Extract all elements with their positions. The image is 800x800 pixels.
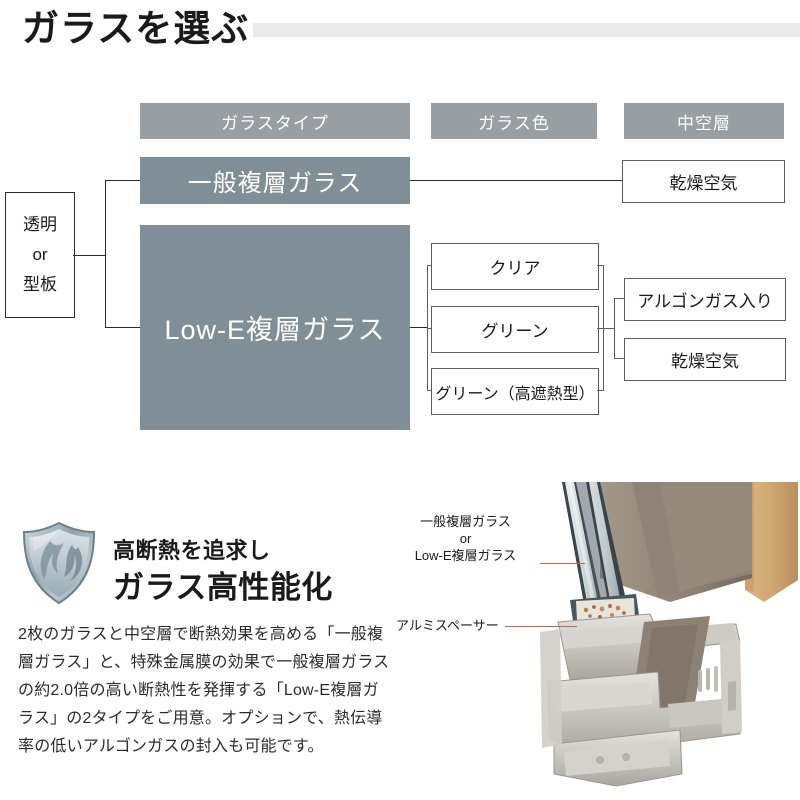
glass-color-green-heatshield: グリーン（高遮熱型） [431,368,599,415]
source-option-conjunction: or [32,240,47,270]
feature-heading: ガラス高性能化 [113,562,333,607]
column-header-label: 中空層 [677,109,731,134]
glass-selection-page: ガラスを選ぶ ガラスタイプ ガラス色 中空層 透明 or 型板 一般複層ガラス … [0,0,800,800]
connector-type-bracket [105,180,106,328]
glass-type-general: 一般複層ガラス [140,157,410,204]
connector-lowe-stem [410,327,428,328]
callout-glass-line2: or [393,530,538,547]
connector-cavity-bracket [614,298,615,359]
glass-color-label: グリーン [481,317,548,342]
connector-to-dry-air [614,358,624,359]
column-header-glass-type: ガラスタイプ [140,103,410,139]
callout-glass-line3: Low-E複層ガラス [393,547,538,564]
page-title: ガラスを選ぶ [22,6,249,52]
connector-source-stem [73,255,106,256]
cavity-label: アルゴンガス入り [637,287,773,312]
glass-color-clear: クリア [431,243,599,290]
column-header-label: ガラスタイプ [221,109,329,134]
column-header-cavity: 中空層 [624,103,784,139]
callout-glass-unit: 一般複層ガラス or Low-E複層ガラス [393,513,538,564]
source-option-clear: 透明 [23,210,57,240]
window-cross-section-photo [540,482,800,800]
connector-to-general [105,180,141,181]
section-divider [0,466,800,467]
callout-glass-line1: 一般複層ガラス [393,513,538,530]
cavity-label: 乾燥空気 [670,169,738,194]
feature-eyebrow: 高断熱を追求し [113,533,271,565]
leader-line-glass [540,563,585,564]
callout-spacer-label: アルミスペーサー [396,618,499,633]
shield-emblem-icon [20,521,98,605]
source-option-patterned: 型板 [23,270,57,300]
connector-to-lowe [105,327,141,328]
glass-type-label: Low-E複層ガラス [165,308,386,347]
cavity-label: 乾燥空気 [671,347,739,372]
leader-line-spacer [505,626,577,627]
cavity-lowe-dry-air: 乾燥空気 [624,338,786,381]
glass-color-label: グリーン（高遮熱型） [435,380,594,404]
source-box-transparency: 透明 or 型板 [5,192,75,318]
connector-general-to-dry-air [410,180,622,181]
glass-type-label: 一般複層ガラス [188,163,363,198]
title-accent-bar [253,23,800,37]
glass-type-lowe: Low-E複層ガラス [140,225,410,430]
glass-color-label: クリア [490,254,541,279]
column-header-label: ガラス色 [478,109,550,134]
feature-body-text: 2枚のガラスと中空層で断熱効果を高める「一般複層ガラス」と、特殊金属膜の効果で一… [18,621,390,761]
connector-to-argon [614,298,624,299]
glass-color-green: グリーン [431,306,599,353]
cavity-general-dry-air: 乾燥空気 [622,160,785,203]
cavity-argon-gas: アルゴンガス入り [624,278,786,321]
column-header-glass-color: ガラス色 [431,103,597,139]
